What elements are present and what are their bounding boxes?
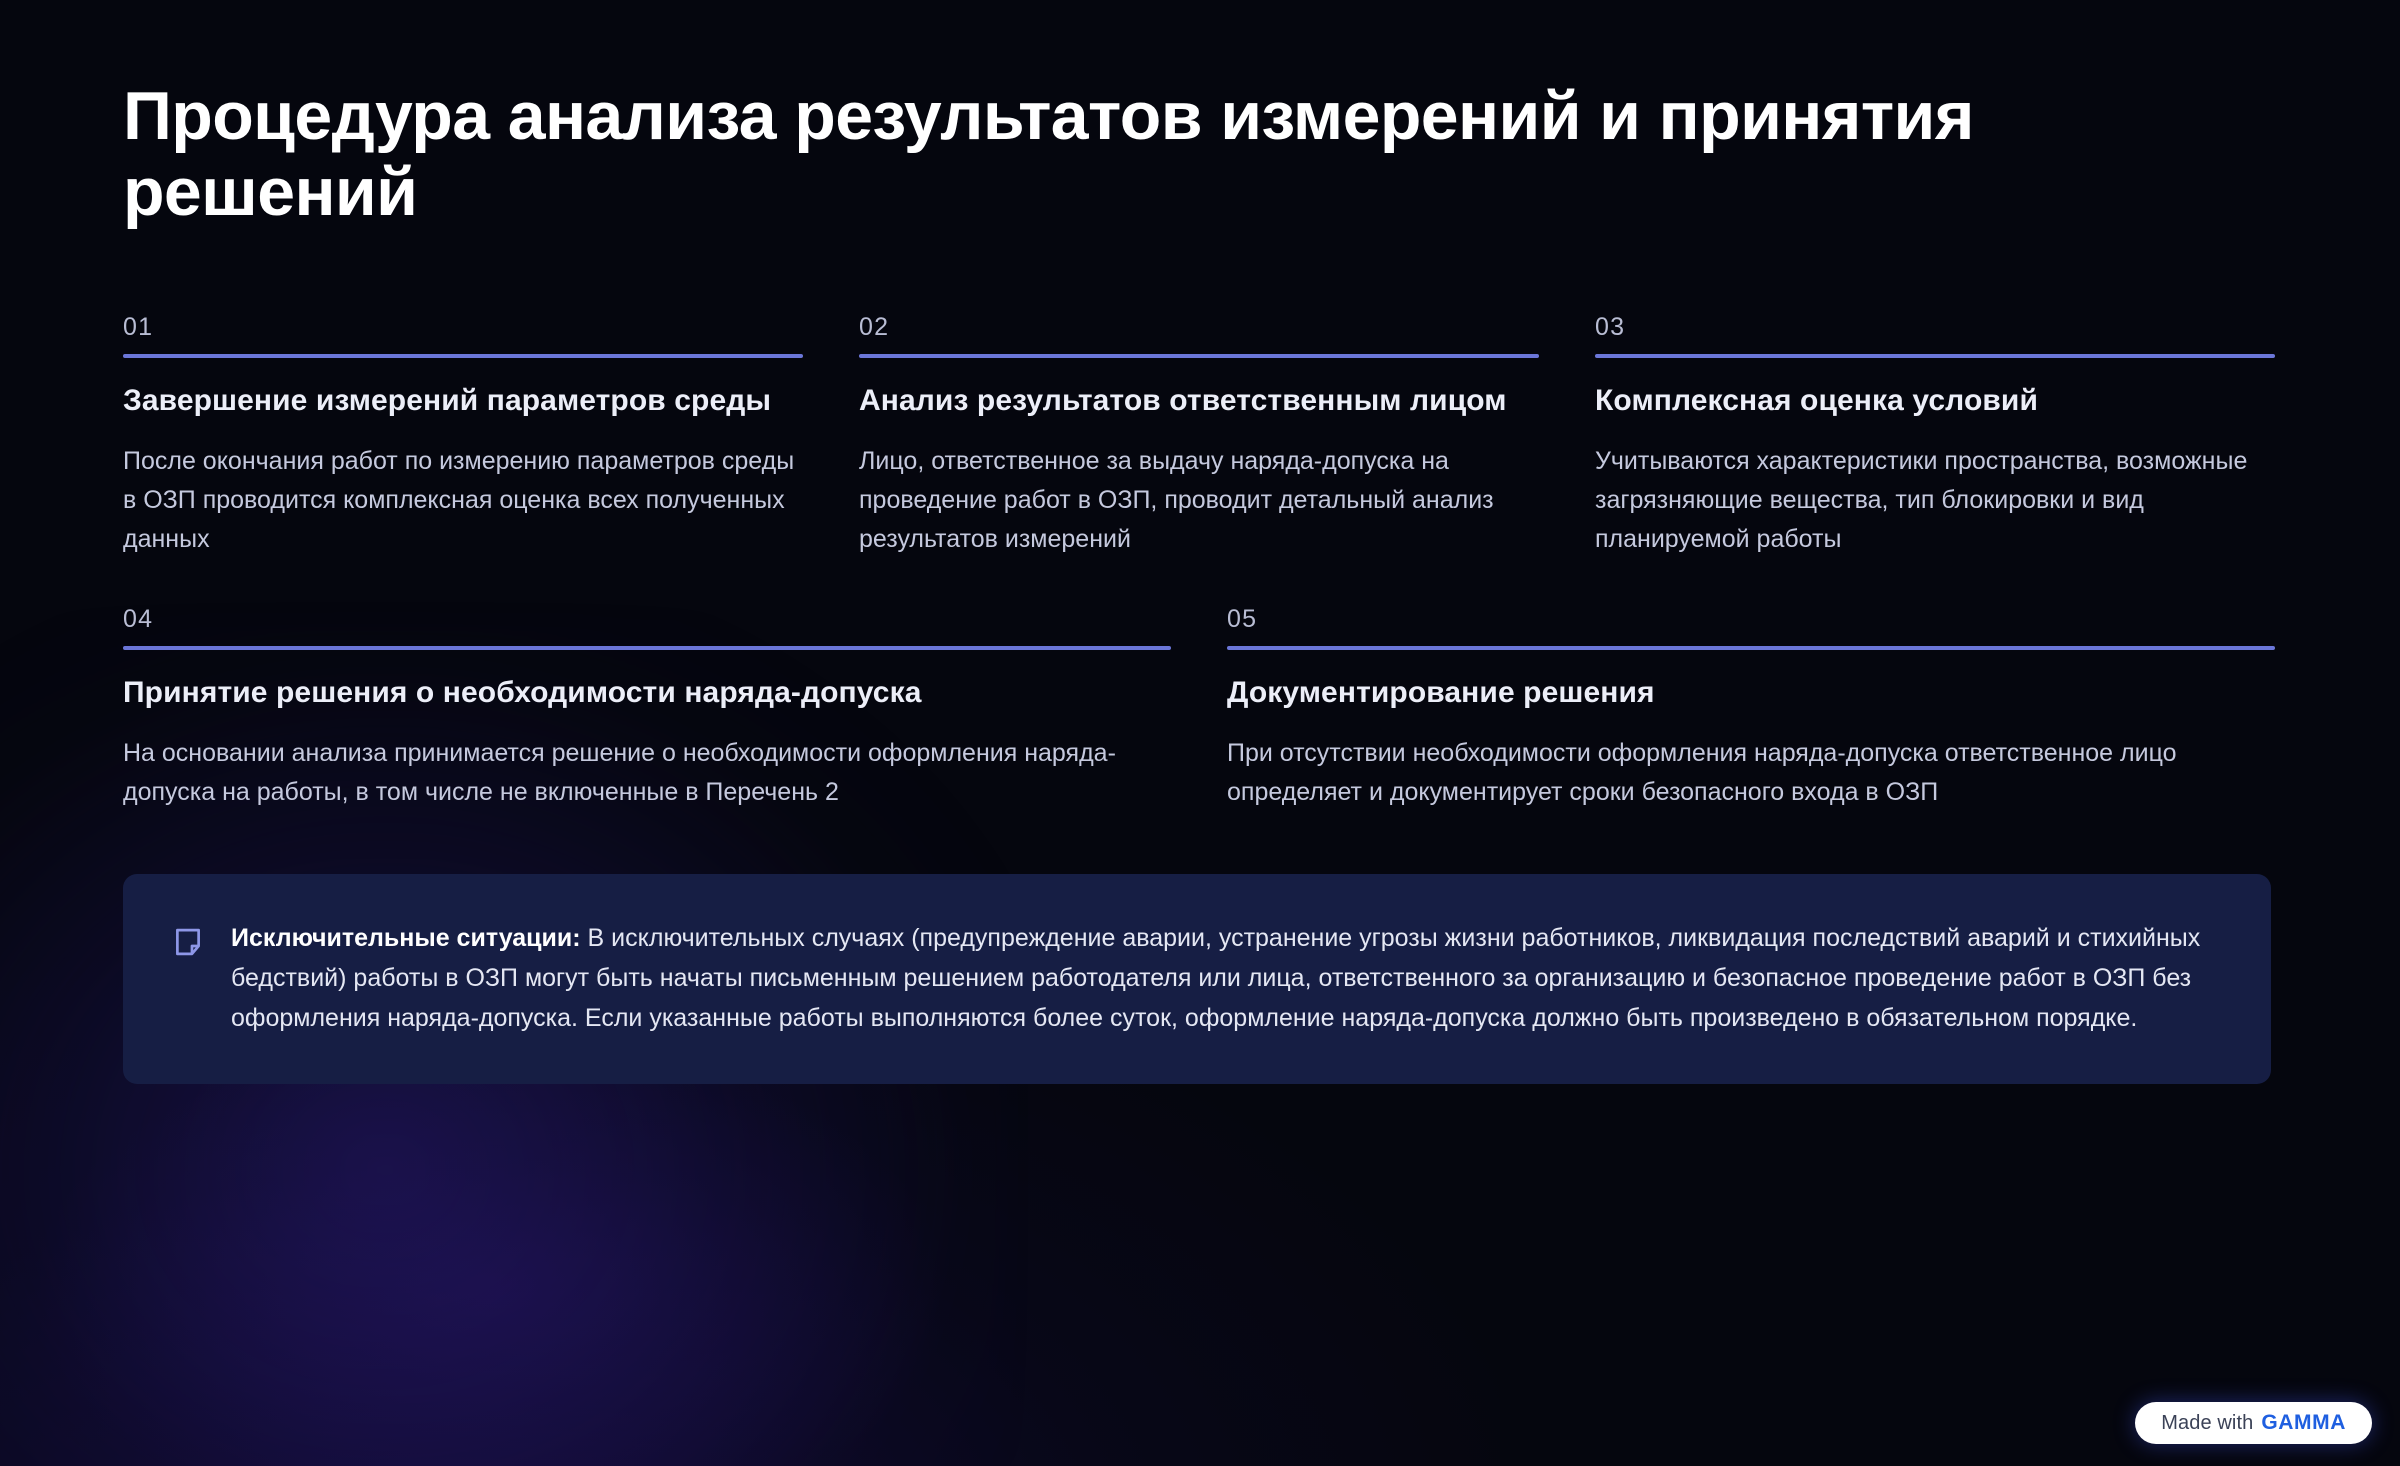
step-card-02: 02 Анализ результатов ответственным лицо… xyxy=(859,315,1539,559)
step-description: Лицо, ответственное за выдачу наряда-доп… xyxy=(859,442,1539,559)
callout-box: Исключительные ситуации: В исключительны… xyxy=(123,874,2271,1084)
step-number: 03 xyxy=(1595,315,2275,354)
step-description: Учитываются характеристики пространства,… xyxy=(1595,442,2275,559)
steps-row-1: 01 Завершение измерений параметров среды… xyxy=(123,315,2275,559)
step-description: На основании анализа принимается решение… xyxy=(123,734,1171,812)
step-title: Принятие решения о необходимости наряда-… xyxy=(123,673,1171,712)
step-title: Документирование решения xyxy=(1227,673,2275,712)
steps-row-2: 04 Принятие решения о необходимости наря… xyxy=(123,607,2275,812)
page-title: Процедура анализа результатов измерений … xyxy=(123,78,2243,230)
step-title: Комплексная оценка условий xyxy=(1595,381,2275,420)
badge-brand-label: GAMMA xyxy=(2261,1411,2346,1435)
note-icon xyxy=(171,925,205,959)
step-description: При отсутствии необходимости оформления … xyxy=(1227,734,2275,812)
step-card-05: 05 Документирование решения При отсутств… xyxy=(1227,607,2275,812)
step-divider xyxy=(123,646,1171,650)
step-title: Анализ результатов ответственным лицом xyxy=(859,381,1539,420)
step-divider xyxy=(859,354,1539,358)
badge-made-with-label: Made with xyxy=(2161,1412,2253,1435)
callout-lead: Исключительные ситуации: xyxy=(231,924,581,952)
step-number: 05 xyxy=(1227,607,2275,646)
step-number: 04 xyxy=(123,607,1171,646)
step-number: 01 xyxy=(123,315,803,354)
made-with-gamma-badge[interactable]: Made with GAMMA xyxy=(2135,1402,2372,1444)
step-description: После окончания работ по измерению парам… xyxy=(123,442,803,559)
callout-text: Исключительные ситуации: В исключительны… xyxy=(231,918,2223,1038)
step-card-01: 01 Завершение измерений параметров среды… xyxy=(123,315,803,559)
step-divider xyxy=(1595,354,2275,358)
step-card-03: 03 Комплексная оценка условий Учитываютс… xyxy=(1595,315,2275,559)
step-number: 02 xyxy=(859,315,1539,354)
slide-root: Процедура анализа результатов измерений … xyxy=(0,0,2400,1466)
step-card-04: 04 Принятие решения о необходимости наря… xyxy=(123,607,1171,812)
step-title: Завершение измерений параметров среды xyxy=(123,381,803,420)
step-divider xyxy=(1227,646,2275,650)
slide-content: Процедура анализа результатов измерений … xyxy=(123,0,2275,1084)
step-divider xyxy=(123,354,803,358)
